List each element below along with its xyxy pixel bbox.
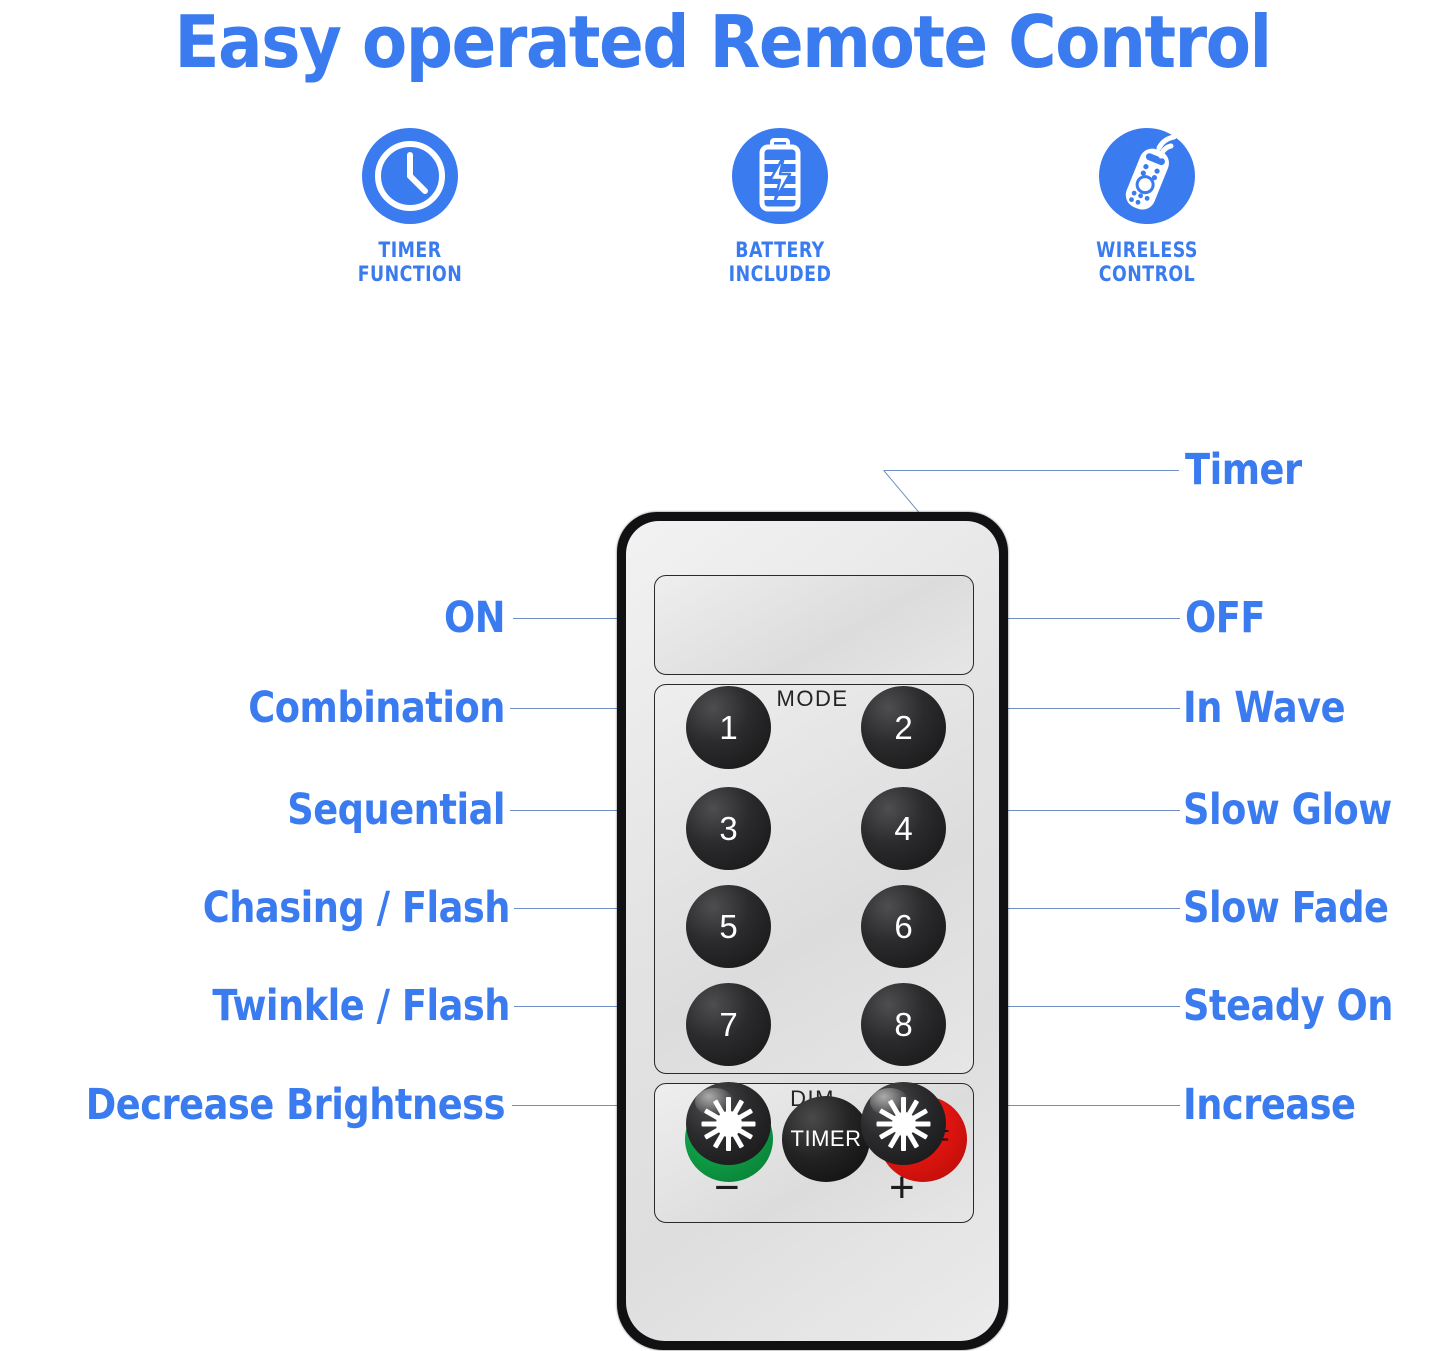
timer-button[interactable]: TIMER: [782, 1096, 870, 1182]
feature-wireless-control: WIRELESSCONTROL: [1022, 128, 1272, 286]
dim-decrease-button[interactable]: [686, 1082, 771, 1165]
callout-timer: Timer: [1185, 446, 1302, 494]
feature-badges: TIMERFUNCTION BATTERYINCLUDED: [0, 128, 1445, 318]
mode-section-label: MODE: [626, 686, 999, 712]
callout-in-wave: In Wave: [1183, 684, 1345, 732]
mode-button-8[interactable]: 8: [861, 983, 946, 1066]
dim-minus-symbol: −: [714, 1166, 740, 1210]
infographic-canvas: Easy operated Remote Control TIMERFUNCTI…: [0, 0, 1445, 1351]
callout-twinkle-flash: Twinkle / Flash: [30, 982, 510, 1030]
feature-timer-function: TIMERFUNCTION: [285, 128, 535, 286]
remote-signal-icon: [1099, 128, 1195, 224]
battery-icon: [732, 128, 828, 224]
callout-decrease-brightness: Decrease Brightness: [25, 1081, 505, 1129]
feature-wireless-label: WIRELESSCONTROL: [1032, 238, 1262, 286]
callout-on: ON: [30, 594, 505, 642]
dim-plus-symbol: +: [889, 1166, 915, 1210]
feature-battery-included: BATTERYINCLUDED: [655, 128, 905, 286]
callout-slow-glow: Slow Glow: [1183, 786, 1392, 834]
leader-line-timer-horizontal: [884, 470, 1179, 471]
feature-timer-label: TIMERFUNCTION: [295, 238, 525, 286]
mode-button-5[interactable]: 5: [686, 885, 771, 968]
mode-button-2[interactable]: 2: [861, 686, 946, 769]
sun-solid-icon: [876, 1096, 932, 1152]
mode-button-1[interactable]: 1: [686, 686, 771, 769]
mode-button-3[interactable]: 3: [686, 787, 771, 870]
remote-face: MODE DIM ON TIMER OFF 1 2 3 4 5 6 7 8: [626, 521, 999, 1341]
sun-hollow-icon: [701, 1096, 757, 1152]
remote-control-device: MODE DIM ON TIMER OFF 1 2 3 4 5 6 7 8: [617, 512, 1008, 1350]
callout-chasing-flash: Chasing / Flash: [30, 884, 510, 932]
callout-sequential: Sequential: [30, 786, 505, 834]
mode-button-6[interactable]: 6: [861, 885, 946, 968]
callout-slow-fade: Slow Fade: [1183, 884, 1389, 932]
dim-increase-button[interactable]: [861, 1082, 946, 1165]
callout-off: OFF: [1185, 594, 1265, 642]
callout-combination: Combination: [30, 684, 505, 732]
mode-button-4[interactable]: 4: [861, 787, 946, 870]
callout-increase: Increase: [1183, 1081, 1355, 1129]
mode-button-7[interactable]: 7: [686, 983, 771, 1066]
clock-icon: [362, 128, 458, 224]
callout-steady-on: Steady On: [1183, 982, 1393, 1030]
page-title: Easy operated Remote Control: [0, 2, 1445, 82]
feature-battery-label: BATTERYINCLUDED: [665, 238, 895, 286]
power-panel: [654, 575, 974, 675]
